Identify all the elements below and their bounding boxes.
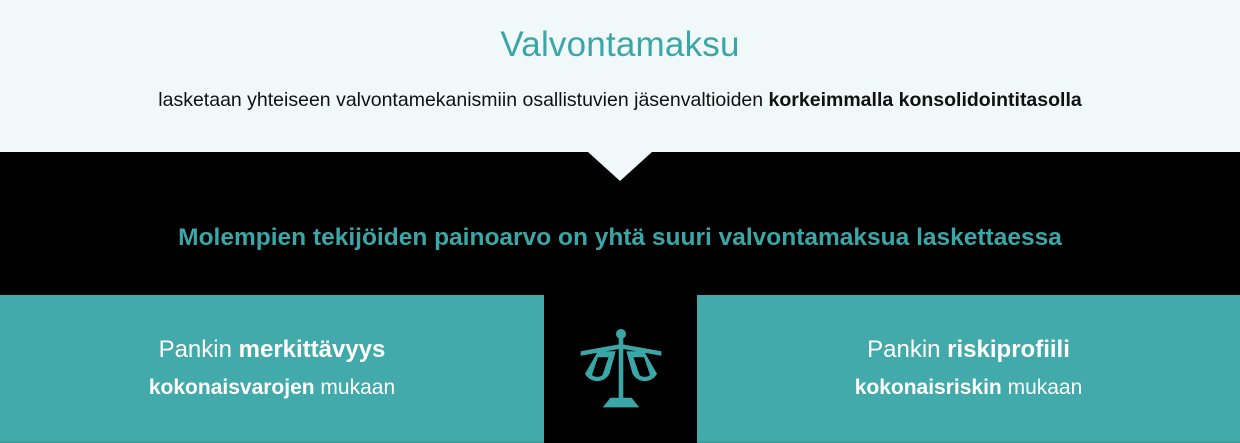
header-subtitle-plain: lasketaan yhteiseen valvontamekanismiin … xyxy=(158,89,768,111)
statement-text: Molempien tekijöiden painoarvo on yhtä s… xyxy=(0,222,1240,254)
factor-right-line1: Pankin riskiprofiili xyxy=(867,336,1070,364)
factor-right-line1-plain: Pankin xyxy=(867,336,947,363)
factor-panel-risk-profile: Pankin riskiprofiili kokonaisriskin muka… xyxy=(697,295,1240,441)
header-band: Valvontamaksu lasketaan yhteiseen valvon… xyxy=(0,0,1240,152)
factor-right-line1-emphasis: riskiprofiili xyxy=(947,336,1070,363)
factors-row: Pankin merkittävyys kokonaisvarojen muka… xyxy=(0,295,1240,443)
factor-right-line2-emphasis: kokonaisriskin xyxy=(855,376,1002,399)
factor-left-line1-emphasis: merkittävyys xyxy=(239,336,386,363)
factor-right-line2-plain: mukaan xyxy=(1002,376,1083,399)
factor-left-line1-plain: Pankin xyxy=(159,336,239,363)
center-divider-column xyxy=(544,295,697,443)
chevron-down-notch-icon xyxy=(588,152,652,181)
factor-left-line2: kokonaisvarojen mukaan xyxy=(149,375,395,400)
factor-left-line2-emphasis: kokonaisvarojen xyxy=(149,376,315,399)
factor-left-line2-plain: mukaan xyxy=(315,376,396,399)
header-subtitle-emphasis: korkeimmalla konsolidointitasolla xyxy=(769,89,1082,111)
balance-scales-icon xyxy=(573,321,669,417)
factor-left-line1: Pankin merkittävyys xyxy=(159,336,386,364)
factor-panel-risk-profile-content: Pankin riskiprofiili kokonaisriskin muka… xyxy=(697,295,1240,441)
infographic-root: Valvontamaksu lasketaan yhteiseen valvon… xyxy=(0,0,1240,443)
factor-right-line2: kokonaisriskin mukaan xyxy=(855,375,1083,400)
factor-panel-significance: Pankin merkittävyys kokonaisvarojen muka… xyxy=(0,295,544,441)
factor-panel-significance-content: Pankin merkittävyys kokonaisvarojen muka… xyxy=(0,295,544,441)
header-subtitle: lasketaan yhteiseen valvontamekanismiin … xyxy=(0,87,1240,113)
page-title: Valvontamaksu xyxy=(0,24,1240,66)
